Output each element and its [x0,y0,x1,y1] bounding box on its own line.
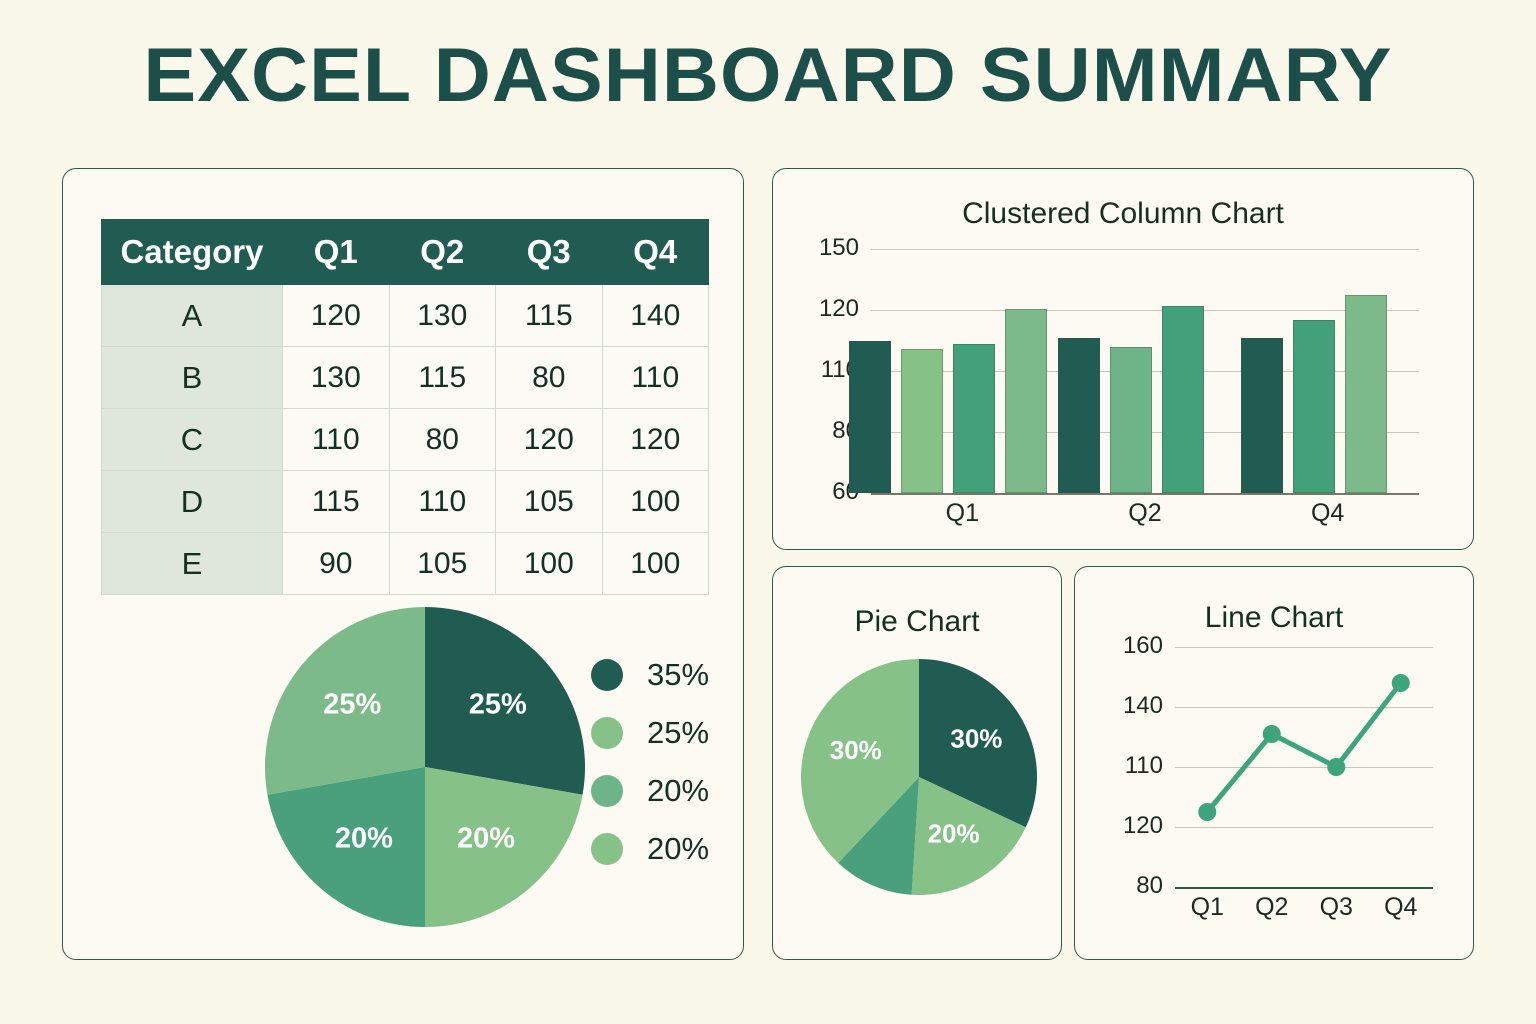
line-chart-plot: 16014011012080 [1175,647,1433,887]
cell-value: 105 [389,533,496,595]
column-bar [1345,295,1387,493]
line-chart-title: Line Chart [1075,601,1473,635]
line-chart-panel: Line Chart 16014011012080 Q1Q2Q3Q4 [1074,566,1474,960]
legend-item-label: 35% [647,657,709,693]
cell-value: 120 [602,409,709,471]
cell-value: 115 [283,471,390,533]
cell-value: 110 [283,409,390,471]
cell-category: E [102,533,283,595]
clustered-column-chart-panel: Clustered Column Chart 1501201108060 Q1Q… [772,168,1474,550]
legend-item-label: 25% [647,715,709,751]
page-title: EXCEL DASHBOARD SUMMARY [0,38,1536,114]
column-header-q4: Q4 [602,220,709,285]
y-axis-tick-label: 80 [1097,872,1163,900]
cell-category: D [102,471,283,533]
column-bar [849,341,891,493]
y-axis-tick-label: 140 [1097,692,1163,720]
legend-item[interactable]: 35% [591,657,709,693]
cell-category: A [102,285,283,347]
x-axis-tick-label: Q3 [1304,893,1369,922]
x-axis-tick-label: Q2 [1054,499,1237,528]
pie-slice-label: 20% [928,818,980,848]
legend-item[interactable]: 20% [591,831,709,867]
pie-slice-label: 30% [830,735,882,765]
x-axis-tick-label: Q1 [1175,893,1240,922]
x-axis-tick-label: Q4 [1369,893,1434,922]
pie-slice-label: 20% [457,822,515,854]
cell-value: 110 [602,347,709,409]
gridline [871,310,1419,311]
column-bar [1058,338,1100,493]
column-bar [1241,338,1283,493]
gridline [871,249,1419,250]
column-bar [953,344,995,493]
line-series-svg [1175,647,1433,887]
line-series-path [1207,683,1401,812]
cell-value: 100 [496,533,603,595]
table-row: C 110 80 120 120 [102,409,709,471]
small-pie-svg: 30%20%30% [801,659,1037,895]
column-header-q2: Q2 [389,220,496,285]
pie-slice-label: 20% [335,822,393,854]
column-chart-title: Clustered Column Chart [773,197,1473,231]
cell-value: 100 [602,471,709,533]
column-header-category: Category [102,220,283,285]
legend-item-label: 20% [647,773,709,809]
x-axis-line [871,493,1419,495]
cell-category: C [102,409,283,471]
line-chart-x-axis: Q1Q2Q3Q4 [1175,893,1433,927]
table-row: A 120 130 115 140 [102,285,709,347]
cell-value: 120 [283,285,390,347]
y-axis-tick-label: 120 [793,295,859,323]
main-pie-chart: 25%20%20%25% 35%25%20%20% [95,599,713,939]
pie-slice-label: 25% [469,689,527,721]
pie-legend: 35%25%20%20% [591,657,709,867]
x-axis-tick-label: Q1 [871,499,1054,528]
column-chart-x-axis: Q1Q2Q4 [871,499,1419,533]
cell-value: 100 [602,533,709,595]
line-data-point [1198,803,1216,821]
cell-value: 120 [496,409,603,471]
line-data-point [1392,674,1410,692]
table-and-pie-panel: Category Q1 Q2 Q3 Q4 A 120 130 115 140 B… [62,168,744,960]
legend-color-swatch-icon [591,717,623,749]
x-axis-tick-label: Q4 [1236,499,1419,528]
table-row: D 115 110 105 100 [102,471,709,533]
legend-item[interactable]: 25% [591,715,709,751]
legend-color-swatch-icon [591,833,623,865]
column-bar [1005,309,1047,493]
line-data-point [1327,758,1345,776]
column-header-q3: Q3 [496,220,603,285]
cell-category: B [102,347,283,409]
table-header-row: Category Q1 Q2 Q3 Q4 [102,220,709,285]
legend-item[interactable]: 20% [591,773,709,809]
cell-value: 115 [496,285,603,347]
column-bar [901,349,943,493]
cell-value: 80 [496,347,603,409]
y-axis-tick-label: 160 [1097,632,1163,660]
cell-value: 105 [496,471,603,533]
x-axis-tick-label: Q2 [1240,893,1305,922]
pie-chart-panel: Pie Chart 30%20%30% [772,566,1062,960]
table-row: E 90 105 100 100 [102,533,709,595]
column-chart-plot: 1501201108060 [871,249,1419,493]
cell-value: 130 [389,285,496,347]
data-table: Category Q1 Q2 Q3 Q4 A 120 130 115 140 B… [101,219,709,595]
pie-slice-label: 25% [323,689,381,721]
column-bar [1162,306,1204,493]
cell-value: 80 [389,409,496,471]
cell-value: 90 [283,533,390,595]
cell-value: 115 [389,347,496,409]
line-data-point [1263,725,1281,743]
column-bar [1293,320,1335,494]
legend-item-label: 20% [647,831,709,867]
y-axis-tick-label: 110 [1097,752,1163,780]
cell-value: 130 [283,347,390,409]
column-header-q1: Q1 [283,220,390,285]
cell-value: 140 [602,285,709,347]
legend-color-swatch-icon [591,775,623,807]
main-pie-svg: 25%20%20%25% [265,607,585,927]
column-bar [1110,347,1152,493]
cell-value: 110 [389,471,496,533]
table-row: B 130 115 80 110 [102,347,709,409]
y-axis-tick-label: 150 [793,234,859,262]
x-axis-line [1175,887,1433,889]
pie-slice-label: 30% [950,723,1002,753]
pie-chart-title: Pie Chart [773,605,1061,639]
legend-color-swatch-icon [591,659,623,691]
y-axis-tick-label: 120 [1097,812,1163,840]
